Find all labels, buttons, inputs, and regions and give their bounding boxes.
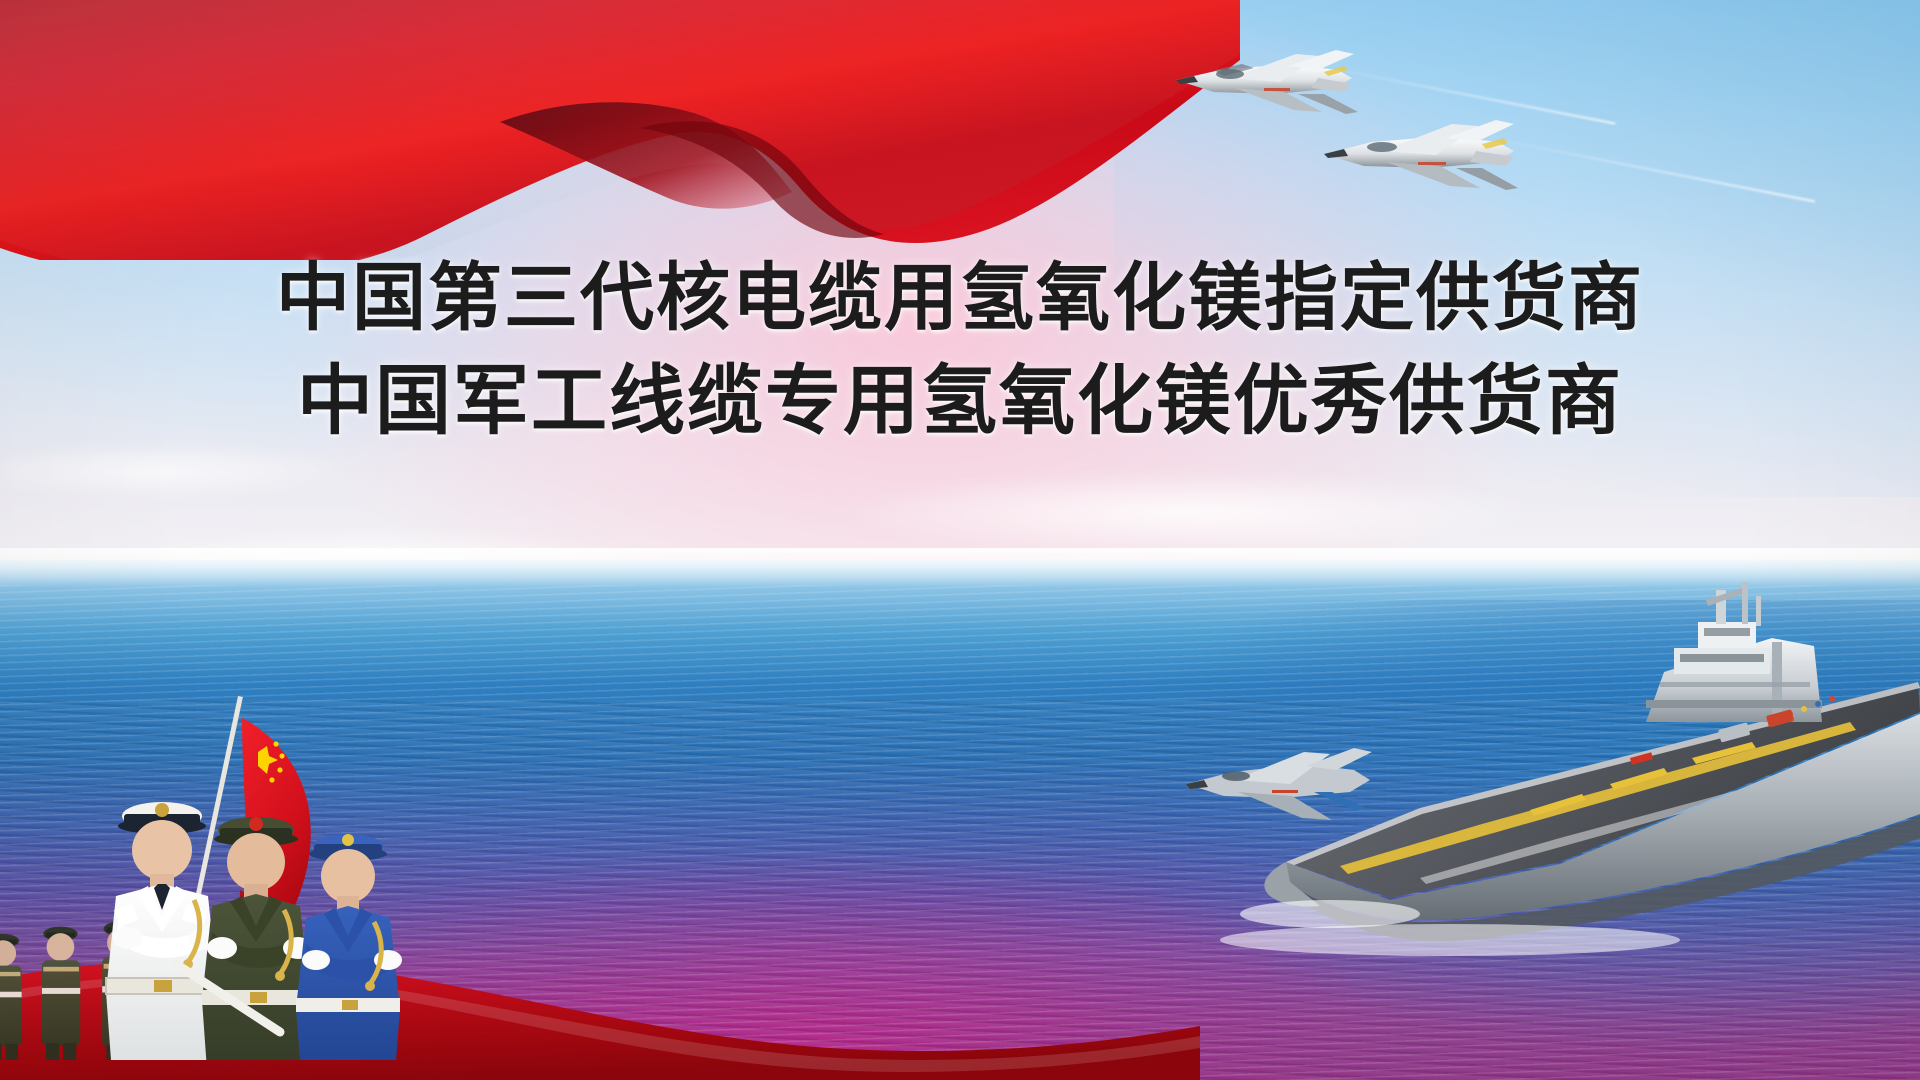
aircraft-carrier [1090, 562, 1920, 962]
fighter-jet-lower [1318, 118, 1518, 210]
guard-navy [106, 802, 219, 1060]
honour-guard [0, 640, 540, 1060]
banner-stage: 中国第三代核电缆用氢氧化镁指定供货商 中国军工线缆专用氢氧化镁优秀供货商 [0, 0, 1920, 1080]
guard-airforce [296, 834, 402, 1060]
waving-red-flag-top [0, 0, 1240, 260]
